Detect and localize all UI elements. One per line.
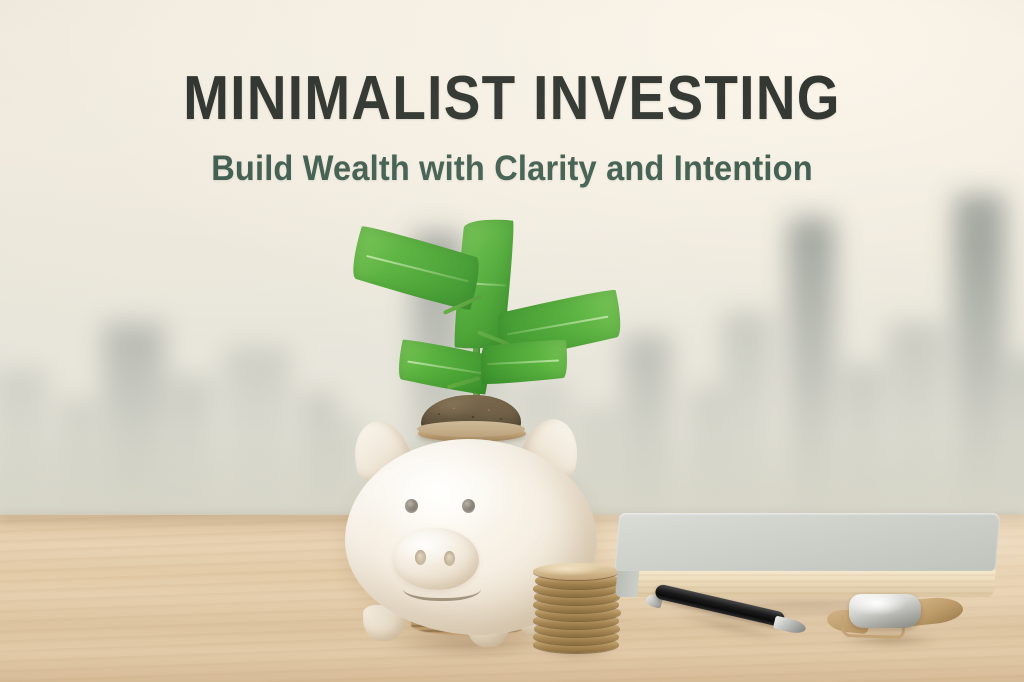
seedling (330, 222, 630, 422)
coin-top (533, 563, 619, 580)
watch-case (849, 594, 921, 628)
hero-banner: MINIMALIST INVESTING Build Wealth with C… (0, 0, 1024, 682)
wristwatch (823, 592, 963, 654)
pen (646, 592, 810, 636)
pig-eye-right (462, 499, 475, 513)
pig-nostril-left (415, 550, 426, 565)
pig-nostril-right (444, 551, 455, 566)
page-subtitle: Build Wealth with Clarity and Intention (36, 149, 988, 189)
pig-coin-slot (417, 421, 525, 437)
coin-stack (533, 558, 619, 650)
leaf-lower-right (478, 338, 570, 387)
pig-eye-left (405, 499, 418, 513)
notebook-cover (614, 513, 1000, 571)
pig-smile (403, 575, 481, 601)
page-title: MINIMALIST INVESTING (59, 63, 965, 134)
